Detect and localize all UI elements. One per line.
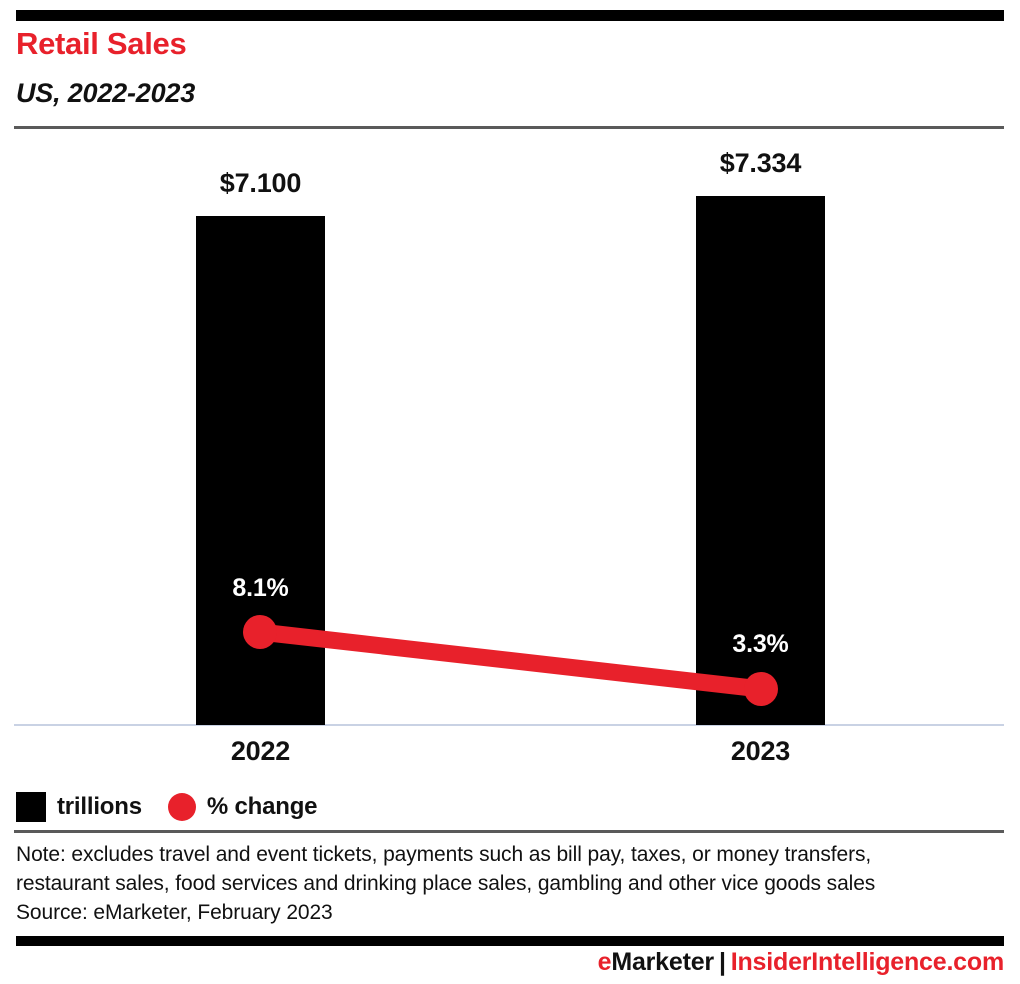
bar-value-label-2023: $7.334 [696, 150, 825, 177]
brand-marketer: Marketer [611, 948, 714, 976]
plot-area: $7.100 $7.334 8.1% 3.3% 2022 2023 [0, 0, 1020, 984]
legend-label-percent-change: % change [207, 795, 317, 819]
percent-change-line [260, 632, 761, 689]
footer-branding: eMarketer|InsiderIntelligence.com [598, 950, 1004, 975]
legend-item-trillions[interactable]: trillions [16, 792, 142, 822]
x-axis-label-2023: 2023 [696, 738, 825, 765]
percent-change-line-layer [0, 0, 1020, 984]
percent-label-2023: 3.3% [696, 632, 825, 657]
source-line: Source: eMarketer, February 2023 [16, 898, 1006, 927]
bar-value-label-2022: $7.100 [196, 170, 325, 197]
bar-2022[interactable] [196, 216, 325, 725]
note-line-1: Note: excludes travel and event tickets,… [16, 840, 1006, 869]
chart-page: Retail Sales US, 2022-2023 $7.100 $7.334… [0, 0, 1020, 984]
chart-legend: trillions % change [16, 792, 317, 822]
brand-separator: | [714, 948, 731, 976]
x-axis-label-2022: 2022 [196, 738, 325, 765]
percent-label-2022: 8.1% [196, 576, 325, 601]
brand-e: e [598, 948, 612, 976]
axis-baseline [14, 724, 1004, 726]
brand-website[interactable]: InsiderIntelligence.com [731, 948, 1004, 976]
legend-item-percent-change[interactable]: % change [168, 793, 317, 821]
footer-rule [16, 936, 1004, 946]
note-block: Note: excludes travel and event tickets,… [16, 840, 1006, 927]
square-swatch-icon [16, 792, 46, 822]
note-line-2: restaurant sales, food services and drin… [16, 869, 1006, 898]
circle-swatch-icon [168, 793, 196, 821]
note-divider [14, 830, 1004, 833]
legend-label-trillions: trillions [57, 795, 142, 819]
